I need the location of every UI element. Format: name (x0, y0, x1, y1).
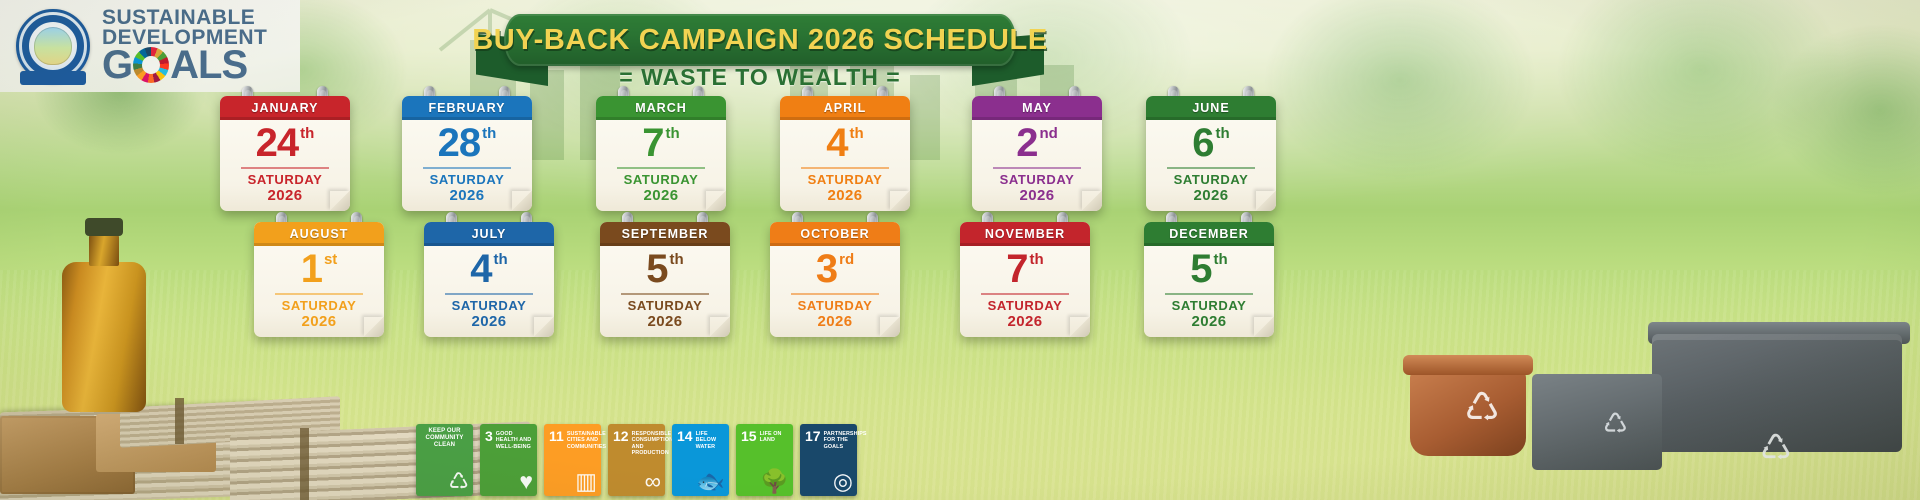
calendar-divider (275, 293, 363, 295)
calendar-divider (241, 167, 329, 169)
prop-bundle-strap-1 (175, 398, 184, 444)
recycle-icon: ♺ (1760, 430, 1792, 466)
sdg-badge-icon: 🌳 (760, 470, 789, 493)
calendar-day-suffix: th (1214, 252, 1228, 267)
calendar-weekday: SATURDAY (430, 172, 505, 187)
calendar-month-label: JULY (472, 227, 507, 241)
sdg-badge-12[interactable]: 12Responsible Consumption and Production… (608, 424, 665, 496)
calendar-weekday: SATURDAY (624, 172, 699, 187)
calendar-day-suffix: th (300, 126, 314, 141)
sdg-badge-icon: ∞ (645, 470, 661, 493)
calendar-month-header: NOVEMBER (960, 222, 1090, 246)
sdg-color-wheel-icon (133, 47, 169, 83)
sdg-badge-icon: ♥ (519, 470, 533, 493)
calendar-year: 2026 (450, 187, 485, 204)
calendar-day-suffix: th (482, 126, 496, 141)
page-curl (1254, 317, 1274, 337)
calendar-day-suffix: st (324, 252, 337, 267)
calendar-day-number: 28 (438, 123, 481, 163)
prop-glass-bottle (62, 262, 146, 412)
sdg-badge-number: 14 (677, 429, 693, 443)
calendar-year: 2026 (648, 313, 683, 330)
page-curl (1256, 191, 1276, 211)
calendar-weekday: SATURDAY (1000, 172, 1075, 187)
calendar-day-number: 1 (301, 249, 322, 289)
sdg-badge-14[interactable]: 14Life Below Water🐟 (672, 424, 729, 496)
sdg-badge-title: Keep Our Community Clean (421, 428, 468, 449)
calendar-divider (621, 293, 709, 295)
calendar-month-header: AUGUST (254, 222, 384, 246)
calendar-month-header: OCTOBER (770, 222, 900, 246)
calendar-day-number: 2 (1016, 123, 1037, 163)
calendar-month-header: JULY (424, 222, 554, 246)
calendar-year: 2026 (1194, 187, 1229, 204)
calendar-card-august[interactable]: AUGUST1stSATURDAY2026 (254, 222, 384, 337)
calendar-day-suffix: th (850, 126, 864, 141)
title-banner: BUY-BACK CAMPAIGN 2026 SCHEDULE = WASTE … (480, 6, 1040, 92)
calendar-card-may[interactable]: MAY2ndSATURDAY2026 (972, 96, 1102, 211)
calendar-year: 2026 (302, 313, 337, 330)
calendar-month-label: APRIL (824, 101, 867, 115)
recycle-icon: ♺ (1464, 388, 1500, 428)
ribbon-body: BUY-BACK CAMPAIGN 2026 SCHEDULE (504, 14, 1016, 66)
calendar-day-number: 24 (256, 123, 299, 163)
calendar-year: 2026 (828, 187, 863, 204)
sdg-badge-title: Responsible Consumption and Production (632, 431, 674, 457)
calendar-year: 2026 (472, 313, 507, 330)
calendar-divider (801, 167, 889, 169)
calendar-weekday: SATURDAY (798, 298, 873, 313)
calendar-month-header: APRIL (780, 96, 910, 120)
sdg-badge-17[interactable]: 17Partnerships for the Goals◎ (800, 424, 857, 496)
sdg-logo: SUSTAINABLE DEVELOPMENT G ALS (102, 8, 267, 83)
calendar-weekday: SATURDAY (988, 298, 1063, 313)
calendar-month-label: MARCH (635, 101, 687, 115)
calendar-card-november[interactable]: NOVEMBER7thSATURDAY2026 (960, 222, 1090, 337)
banner-subtitle: = WASTE TO WEALTH = (480, 64, 1040, 91)
calendar-divider (1167, 167, 1255, 169)
calendar-month-header: FEBRUARY (402, 96, 532, 120)
sdg-goals-post: ALS (170, 47, 247, 84)
calendar-weekday: SATURDAY (1174, 172, 1249, 187)
page-curl (1070, 317, 1090, 337)
calendar-weekday: SATURDAY (282, 298, 357, 313)
calendar-weekday: SATURDAY (1172, 298, 1247, 313)
prop-recycle-bin (1532, 374, 1662, 470)
sdg-badge-title: Sustainable Cities and Communities (567, 431, 606, 450)
calendar-divider (445, 293, 533, 295)
calendar-month-header: MARCH (596, 96, 726, 120)
calendar-day-suffix: th (494, 252, 508, 267)
calendar-day-number: 5 (646, 249, 667, 289)
sdg-badge-title: Life on Land (760, 431, 788, 444)
calendar-month-header: DECEMBER (1144, 222, 1274, 246)
calendar-month-label: OCTOBER (800, 227, 869, 241)
calendar-card-december[interactable]: DECEMBER5thSATURDAY2026 (1144, 222, 1274, 337)
page-curl (534, 317, 554, 337)
calendar-day-suffix: th (666, 126, 680, 141)
calendar-month-header: MAY (972, 96, 1102, 120)
calendar-month-label: SEPTEMBER (622, 227, 709, 241)
calendar-month-label: DECEMBER (1169, 227, 1249, 241)
calendar-divider (981, 293, 1069, 295)
sdg-badge-icon: ◎ (833, 470, 853, 493)
sdg-badge-number: 15 (741, 429, 757, 443)
sdg-badge-title: Partnerships for the Goals (824, 431, 867, 450)
sdg-badge-title: Life Below Water (696, 431, 724, 450)
calendar-divider (1165, 293, 1253, 295)
calendar-month-label: AUGUST (290, 227, 349, 241)
header-logo-bar: SUSTAINABLE DEVELOPMENT G ALS (0, 0, 300, 92)
banner-title: BUY-BACK CAMPAIGN 2026 SCHEDULE (472, 24, 1048, 57)
page-curl (706, 191, 726, 211)
calendar-day-suffix: th (670, 252, 684, 267)
calendar-month-label: JUNE (1192, 101, 1229, 115)
calendar-card-february[interactable]: FEBRUARY28thSATURDAY2026 (402, 96, 532, 211)
calendar-day-suffix: nd (1039, 126, 1057, 141)
sdg-badge-number: 11 (549, 429, 564, 443)
calendar-day-number: 4 (470, 249, 491, 289)
calendar-weekday: SATURDAY (808, 172, 883, 187)
calendar-weekday: SATURDAY (248, 172, 323, 187)
calendar-card-october[interactable]: OCTOBER3rdSATURDAY2026 (770, 222, 900, 337)
calendar-day-number: 5 (1190, 249, 1211, 289)
calendar-card-september[interactable]: SEPTEMBER5thSATURDAY2026 (600, 222, 730, 337)
calendar-year: 2026 (1020, 187, 1055, 204)
calendar-day-number: 7 (1006, 249, 1027, 289)
calendar-card-january[interactable]: JANUARY24thSATURDAY2026 (220, 96, 350, 211)
sdg-badge-icon: ♺ (448, 470, 469, 493)
prop-bundle-strap-2 (300, 428, 309, 500)
calendar-day-number: 3 (816, 249, 837, 289)
calendar-weekday: SATURDAY (452, 298, 527, 313)
page-curl (512, 191, 532, 211)
sdg-badge-row: Keep Our Community Clean♺3Good Health an… (416, 424, 857, 496)
page-curl (710, 317, 730, 337)
sdg-goals-pre: G (102, 47, 132, 84)
sdg-line-1: SUSTAINABLE (102, 8, 267, 27)
calendar-year: 2026 (644, 187, 679, 204)
calendar-day-number: 7 (642, 123, 663, 163)
sdg-badge-15[interactable]: 15Life on Land🌳 (736, 424, 793, 496)
calendar-month-header: SEPTEMBER (600, 222, 730, 246)
calendar-divider (423, 167, 511, 169)
page-curl (1082, 191, 1102, 211)
sdg-badge-number: 3 (485, 429, 493, 443)
sdg-badge-11[interactable]: 11Sustainable Cities and Communities▥ (544, 424, 601, 496)
calendar-month-label: FEBRUARY (429, 101, 506, 115)
calendar-month-label: NOVEMBER (985, 227, 1065, 241)
calendar-card-july[interactable]: JULY4thSATURDAY2026 (424, 222, 554, 337)
calendar-card-june[interactable]: JUNE6thSATURDAY2026 (1146, 96, 1276, 211)
calendar-day-suffix: th (1030, 252, 1044, 267)
sdg-badge-title: Good Health and Well-Being (496, 431, 532, 450)
calendar-month-header: JUNE (1146, 96, 1276, 120)
calendar-month-label: JANUARY (252, 101, 319, 115)
calendar-divider (617, 167, 705, 169)
council-seal-icon (16, 9, 90, 83)
calendar-card-march[interactable]: MARCH7thSATURDAY2026 (596, 96, 726, 211)
calendar-year: 2026 (1192, 313, 1227, 330)
calendar-month-label: MAY (1022, 101, 1052, 115)
calendar-year: 2026 (268, 187, 303, 204)
calendar-day-number: 6 (1192, 123, 1213, 163)
calendar-divider (791, 293, 879, 295)
calendar-month-header: JANUARY (220, 96, 350, 120)
calendar-day-suffix: th (1216, 126, 1230, 141)
sdg-badge-icon: ▥ (575, 470, 597, 493)
calendar-day-number: 4 (826, 123, 847, 163)
calendar-year: 2026 (818, 313, 853, 330)
page-curl (330, 191, 350, 211)
sdg-badge-keep-clean[interactable]: Keep Our Community Clean♺ (416, 424, 473, 496)
calendar-weekday: SATURDAY (628, 298, 703, 313)
page-curl (880, 317, 900, 337)
recycle-icon: ♺ (1603, 410, 1628, 438)
sdg-badge-icon: 🐟 (696, 470, 725, 493)
page-curl (364, 317, 384, 337)
calendar-card-april[interactable]: APRIL4thSATURDAY2026 (780, 96, 910, 211)
sdg-badge-number: 17 (805, 429, 821, 443)
calendar-day-suffix: rd (839, 252, 854, 267)
sdg-badge-3[interactable]: 3Good Health and Well-Being♥ (480, 424, 537, 496)
calendar-divider (993, 167, 1081, 169)
sdg-badge-number: 12 (613, 429, 629, 443)
page-curl (890, 191, 910, 211)
calendar-year: 2026 (1008, 313, 1043, 330)
